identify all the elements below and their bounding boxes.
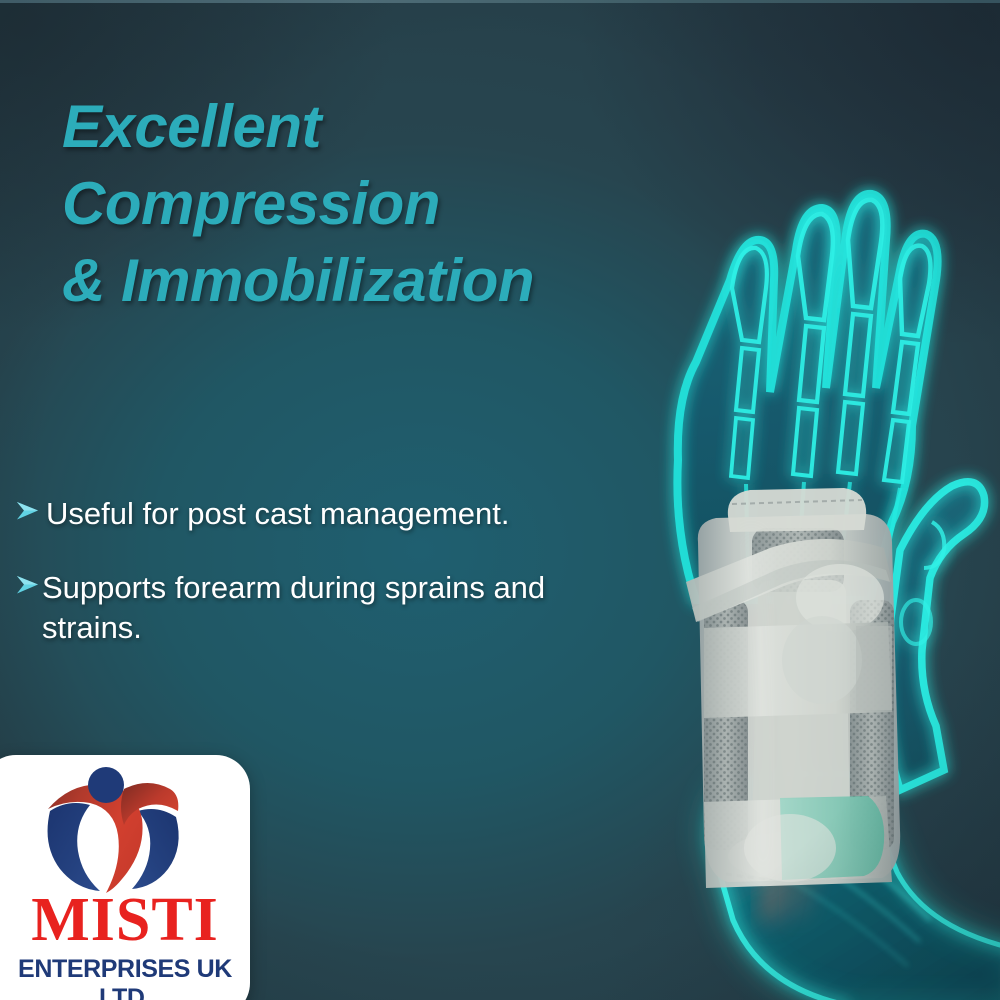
arrow-bullet-icon <box>16 574 42 596</box>
logo-wordmark: MISTI <box>0 887 250 953</box>
list-item-label: Supports forearm during sprains and stra… <box>42 568 596 648</box>
headline-line-1: Excellent <box>62 88 702 165</box>
feature-list: Useful for post cast management. Support… <box>16 494 596 682</box>
list-item: Supports forearm during sprains and stra… <box>16 568 596 648</box>
list-item-label: Useful for post cast management. <box>46 494 596 534</box>
list-item: Useful for post cast management. <box>16 494 596 534</box>
headline-line-3: & Immobilization <box>62 242 702 319</box>
two-figures-mark-icon <box>38 767 188 895</box>
headline-line-2: Compression <box>62 165 702 242</box>
page-title: Excellent Compression & Immobilization <box>62 88 702 319</box>
misti-enterprises-logo[interactable]: MISTI ENTERPRISES UK LTD. <box>0 755 250 1000</box>
logo-tagline: ENTERPRISES UK LTD. <box>0 955 250 1000</box>
promotional-poster: Excellent Compression & Immobilization U… <box>0 0 1000 1000</box>
top-edge-highlight <box>0 0 1000 3</box>
arrow-bullet-icon <box>16 500 46 522</box>
